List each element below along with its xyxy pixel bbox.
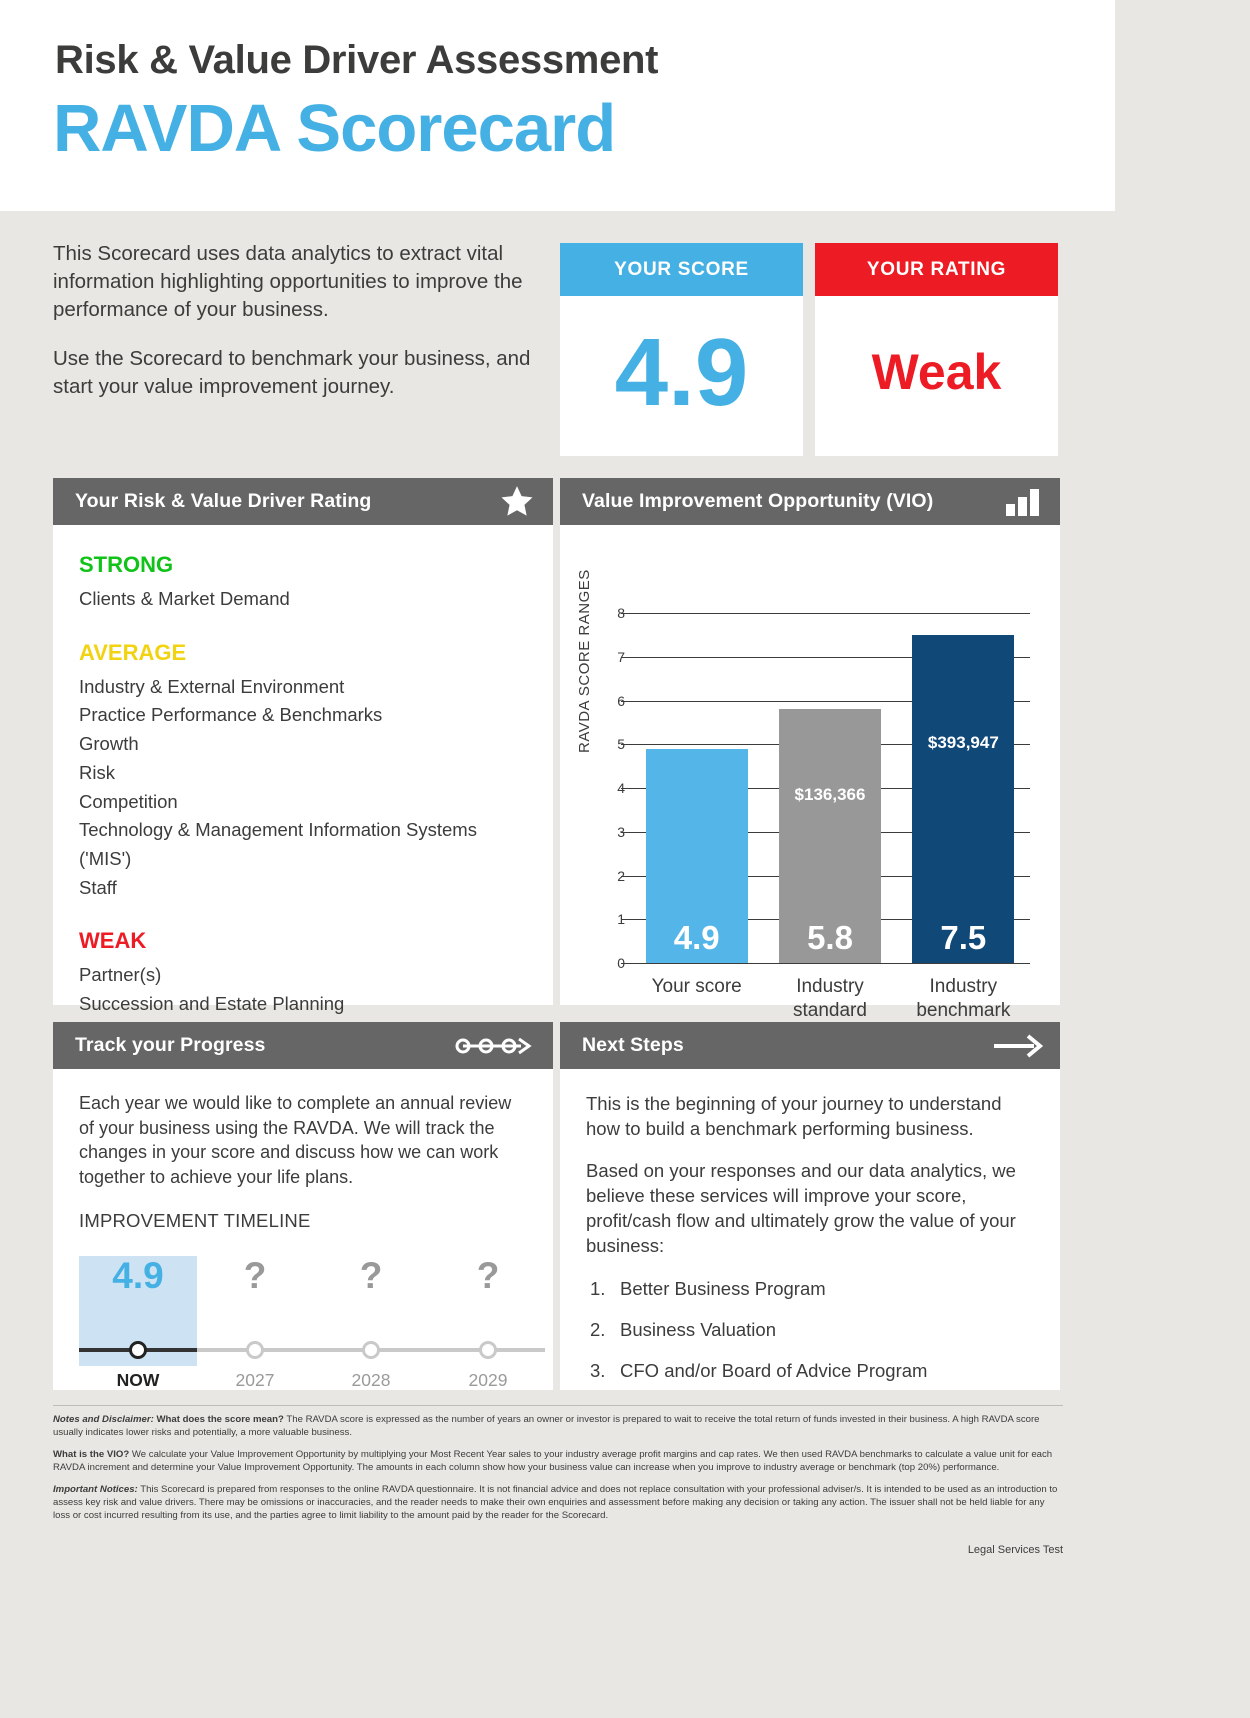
chart-plot-area: 0123456784.95.8$136,3667.5$393,947 [630, 613, 1030, 963]
timeline-node[interactable] [129, 1341, 147, 1359]
your-rating-label: YOUR RATING [815, 243, 1058, 296]
chart-bar: 4.9 [646, 749, 748, 963]
your-score-value: 4.9 [560, 296, 803, 456]
rating-item: Competition [79, 788, 527, 817]
chart-bar: 5.8$136,366 [779, 709, 881, 963]
rating-item: Staff [79, 874, 527, 903]
list-item-label: Business Valuation [620, 1319, 776, 1340]
intro-paragraph-2: Use the Scorecard to benchmark your busi… [53, 345, 548, 401]
timeline-node[interactable] [362, 1341, 380, 1359]
rating-item: Practice Performance & Benchmarks [79, 701, 527, 730]
bar-chart-icon [1004, 487, 1044, 517]
list-item: 1. Better Business Program [586, 1276, 1030, 1301]
track-panel-title: Track your Progress [75, 1034, 266, 1057]
value-improvement-opportunity-panel: Value Improvement Opportunity (VIO) RAVD… [560, 478, 1060, 1005]
footer-vio: What is the VIO? We calculate your Value… [53, 1449, 1063, 1474]
rating-item: Succession and Estate Planning [79, 990, 527, 1019]
vio-bar-chart: RAVDA SCORE RANGES 0123456784.95.8$136,3… [560, 525, 1060, 1005]
footer-important: Important Notices: This Scorecard is pre… [53, 1484, 1063, 1522]
scorecard-page: Risk & Value Driver Assessment RAVDA Sco… [0, 0, 1250, 1718]
track-progress-panel: Track your Progress Each year we would l… [53, 1022, 553, 1390]
chart-y-tick-mark [621, 963, 630, 964]
rating-groups: STRONG Clients & Market Demand AVERAGE I… [53, 525, 553, 1019]
your-rating-card: YOUR RATING Weak [815, 243, 1058, 456]
vio-panel-title: Value Improvement Opportunity (VIO) [582, 490, 933, 513]
timeline-year-label: 2029 [429, 1368, 547, 1393]
timeline-year-label: NOW [79, 1368, 197, 1393]
rating-panel-header: Your Risk & Value Driver Rating [53, 478, 553, 525]
footer-vio-heading: What is the VIO? [53, 1449, 129, 1460]
track-panel-header: Track your Progress [53, 1022, 553, 1069]
risk-value-driver-rating-panel: Your Risk & Value Driver Rating STRONG C… [53, 478, 553, 1005]
your-score-card: YOUR SCORE 4.9 [560, 243, 803, 456]
chart-x-tick-label: Industry standard [760, 975, 900, 1023]
footer-vio-text: We calculate your Value Improvement Oppo… [53, 1449, 1052, 1473]
list-item: 2. Business Valuation [586, 1317, 1030, 1342]
star-icon [497, 483, 537, 521]
chart-x-tick-label: Your score [627, 975, 767, 999]
rating-group-label-weak: WEAK [79, 928, 527, 954]
timeline-score-value: ? [429, 1264, 547, 1289]
timeline-score-value: ? [196, 1264, 314, 1289]
chart-y-tick-mark [621, 832, 630, 833]
footer-org-name: Legal Services Test [53, 1544, 1063, 1557]
next-paragraph-1: This is the beginning of your journey to… [586, 1091, 1030, 1141]
improvement-timeline: 4.9NOW?2027?2028?2029 [79, 1256, 527, 1391]
chart-bar-value-label: 4.9 [646, 919, 748, 957]
list-item-number: 3. [590, 1358, 605, 1383]
arrow-right-icon [992, 1032, 1044, 1060]
timeline-year-label: 2028 [312, 1368, 430, 1393]
footer-notes-heading: Notes and Disclaimer: [53, 1414, 154, 1425]
next-panel-title: Next Steps [582, 1034, 684, 1057]
chart-bar-value-label: 7.5 [912, 919, 1014, 957]
rating-item: Risk [79, 759, 527, 788]
page-title: Risk & Value Driver Assessment [55, 38, 658, 83]
footer-important-heading: Important Notices: [53, 1484, 138, 1495]
rating-item: Industry & External Environment [79, 673, 527, 702]
footer-notes-subheading: What does the score mean? [156, 1414, 283, 1425]
vio-panel-header: Value Improvement Opportunity (VIO) [560, 478, 1060, 525]
chart-gridline [630, 963, 1030, 964]
footer-important-text: This Scorecard is prepared from response… [53, 1484, 1057, 1520]
next-steps-list: 1. Better Business Program 2. Business V… [586, 1276, 1030, 1383]
chart-y-tick-mark [621, 744, 630, 745]
timeline-score-value: 4.9 [79, 1264, 197, 1289]
list-item-number: 1. [590, 1276, 605, 1301]
timeline-node[interactable] [479, 1341, 497, 1359]
timeline-score-value: ? [312, 1264, 430, 1289]
rating-panel-title: Your Risk & Value Driver Rating [75, 490, 371, 513]
chart-y-tick-mark [621, 919, 630, 920]
chart-y-tick-mark [621, 788, 630, 789]
list-item: 3. CFO and/or Board of Advice Program [586, 1358, 1030, 1383]
chart-bar-annotation: $393,947 [912, 733, 1014, 753]
chart-y-tick-mark [621, 613, 630, 614]
list-item-number: 2. [590, 1317, 605, 1342]
chart-y-tick-mark [621, 701, 630, 702]
intro-paragraph-1: This Scorecard uses data analytics to ex… [53, 240, 548, 324]
chart-gridline [630, 613, 1030, 614]
rating-item: Partner(s) [79, 961, 527, 990]
list-item-label: CFO and/or Board of Advice Program [620, 1360, 927, 1381]
rating-item: Technology & Management Information Syst… [79, 816, 527, 873]
footer-disclaimer: Notes and Disclaimer: What does the scor… [53, 1405, 1063, 1557]
timeline-year-label: 2027 [196, 1368, 314, 1393]
your-score-label: YOUR SCORE [560, 243, 803, 296]
chart-bar: 7.5$393,947 [912, 635, 1014, 963]
chart-y-tick-mark [621, 657, 630, 658]
next-steps-panel: Next Steps This is the beginning of your… [560, 1022, 1060, 1390]
track-body-text: Each year we would like to complete an a… [79, 1091, 527, 1189]
chart-bar-annotation: $136,366 [779, 785, 881, 805]
rating-item: Growth [79, 730, 527, 759]
chart-bar-value-label: 5.8 [779, 919, 881, 957]
chart-x-tick-label: Industry benchmark [893, 975, 1033, 1023]
footer-notes: Notes and Disclaimer: What does the scor… [53, 1414, 1063, 1439]
rating-group-label-average: AVERAGE [79, 640, 527, 666]
page-subtitle: RAVDA Scorecard [53, 90, 615, 167]
list-item-label: Better Business Program [620, 1278, 826, 1299]
next-panel-body: This is the beginning of your journey to… [560, 1069, 1060, 1383]
chart-y-tick-mark [621, 876, 630, 877]
next-paragraph-2: Based on your responses and our data ana… [586, 1158, 1030, 1258]
improvement-timeline-caption: IMPROVEMENT TIMELINE [79, 1209, 527, 1234]
intro-text: This Scorecard uses data analytics to ex… [53, 240, 548, 401]
progress-dots-icon [455, 1035, 537, 1057]
footer-divider [53, 1405, 1063, 1406]
rating-group-label-strong: STRONG [79, 552, 527, 578]
track-panel-body: Each year we would like to complete an a… [53, 1069, 553, 1391]
chart-y-axis-label: RAVDA SCORE RANGES [576, 569, 593, 753]
rating-item: Clients & Market Demand [79, 585, 527, 614]
page-header: Risk & Value Driver Assessment RAVDA Sco… [0, 0, 1115, 211]
next-panel-header: Next Steps [560, 1022, 1060, 1069]
your-rating-value: Weak [815, 296, 1058, 456]
timeline-node[interactable] [246, 1341, 264, 1359]
